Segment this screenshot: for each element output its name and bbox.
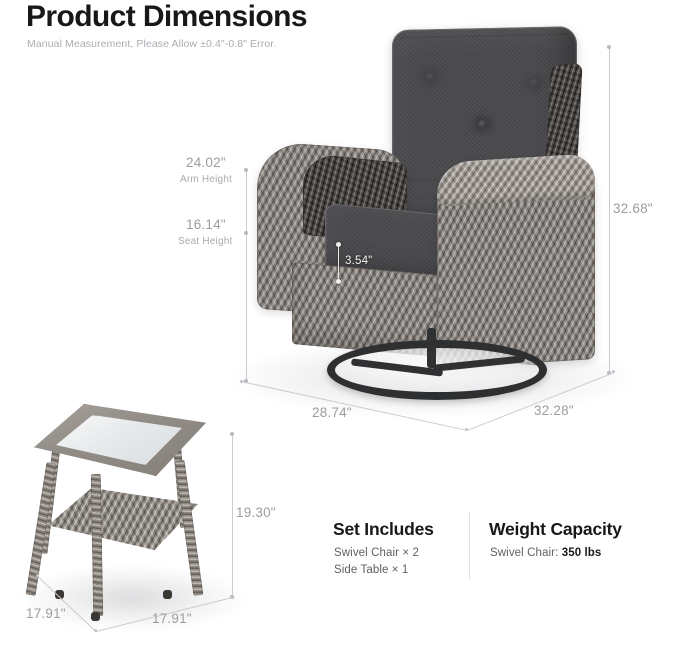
table-width-value: 17.91" [152,611,192,626]
set-includes-heading: Set Includes [333,518,434,540]
swivel-chair-illustration [247,28,597,388]
arm-height-value: 24.02" [186,155,226,170]
chair-base-front-tick [465,428,468,431]
chair-overall-height-value: 32.68" [613,201,653,216]
table-foot-right [163,590,172,599]
weight-capacity-value: 350 lbs [562,547,602,559]
table-lower-shelf [48,488,198,550]
arm-height-label: Arm Height [180,172,232,187]
table-base-left-tick [36,574,39,577]
table-foot-center [91,612,100,621]
chair-arm-height-tick [244,168,248,172]
chair-base-right-tick [612,370,615,373]
chair-seat-height-tick [244,231,248,235]
chair-width-value: 28.74" [312,405,352,420]
measurement-disclaimer: Manual Measurement, Please Allow ±0.4"-0… [27,37,276,51]
cushion-thickness-top-tick [336,242,341,247]
chair-base-left-tick [240,380,243,383]
chair-depth-value: 32.28" [534,403,574,418]
table-base-right-tick [230,595,233,598]
weight-capacity-label: Swivel Chair: [490,547,562,559]
product-dimensions-infographic: Product Dimensions Manual Measurement, P… [0,0,679,656]
weight-capacity-row: Swivel Chair: 350 lbs [490,545,601,562]
info-panel-divider [469,512,470,580]
table-height-dimension-line [232,434,233,597]
table-height-value: 19.30" [236,505,276,520]
chair-overall-height-top-tick [607,45,611,49]
cushion-thickness-bottom-tick [336,279,341,284]
seat-height-label: Seat Height [178,234,232,249]
cushion-thickness-value: 3.54" [345,254,372,269]
weight-capacity-heading: Weight Capacity [489,518,622,540]
table-base-front-tick [94,629,97,632]
table-leg-front-left [26,462,57,596]
chair-swivel-post [427,328,436,368]
table-depth-value: 17.91" [26,606,66,621]
set-includes-item-1: Side Table × 1 [334,562,408,579]
chair-left-dimension-line [246,170,247,381]
chair-overall-height-line [609,47,610,373]
table-height-top-tick [230,432,234,436]
cushion-thickness-line [338,245,339,282]
set-includes-item-0: Swivel Chair × 2 [334,545,419,562]
table-leg-front-right [175,460,204,596]
seat-height-value: 16.14" [186,217,226,232]
